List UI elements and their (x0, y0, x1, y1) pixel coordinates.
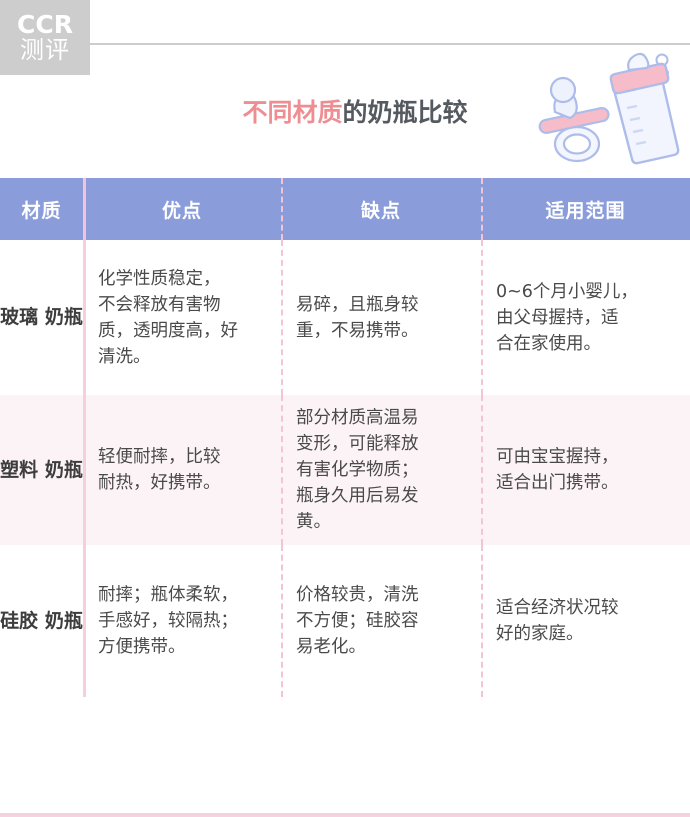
material-line: 玻璃 (0, 306, 38, 328)
material-line: 奶瓶 (45, 459, 83, 481)
text-line: 合在家使用。 (496, 331, 638, 357)
text-line: 黄。 (296, 509, 419, 535)
text-line: 重，不易携带。 (296, 318, 419, 344)
comparison-table: 材质 优点 缺点 适用范围 玻璃 奶瓶 化学性质稳定， 不会释放有害物 质，透明… (0, 178, 690, 697)
text-line: 耐热，好携带。 (98, 470, 221, 496)
text-line: 瓶身久用后易发 (296, 483, 419, 509)
cell-scope: 可由宝宝握持， 适合出门携带。 (481, 395, 690, 545)
cell-material: 硅胶 奶瓶 (0, 545, 83, 697)
text-line: 不方便；硅胶容 (296, 608, 419, 634)
cell-pros: 耐摔；瓶体柔软， 手感好，较隔热； 方便携带。 (83, 545, 281, 697)
logo-primary-text: CCR (17, 12, 73, 37)
text-line: 适合出门携带。 (496, 470, 619, 496)
column-header-material: 材质 (0, 178, 83, 240)
cell-material: 玻璃 奶瓶 (0, 240, 83, 395)
page-title-accent: 不同材质 (242, 98, 342, 127)
cell-cons: 易碎，且瓶身较 重，不易携带。 (281, 240, 481, 395)
text-line: 好的家庭。 (496, 621, 619, 647)
text-line: 不会释放有害物 (98, 292, 238, 318)
text-line: 变形，可能释放 (296, 431, 419, 457)
material-line: 塑料 (0, 459, 38, 481)
column-header-cons: 缺点 (281, 178, 481, 240)
logo-secondary-text: 测评 (20, 37, 70, 64)
text-line: 0~6个月小婴儿， (496, 279, 638, 305)
text-line: 适合经济状况较 (496, 595, 619, 621)
text-line: 价格较贵，清洗 (296, 582, 419, 608)
text-line: 易老化。 (296, 634, 419, 660)
text-line: 部分材质高温易 (296, 405, 419, 431)
table-row: 塑料 奶瓶 轻便耐摔，比较 耐热，好携带。 部分材质高温易 变形，可能释放 有害… (0, 395, 690, 545)
cell-scope: 适合经济状况较 好的家庭。 (481, 545, 690, 697)
page-title-rest: 的奶瓶比较 (343, 98, 468, 127)
text-line: 耐摔；瓶体柔软， (98, 582, 238, 608)
text-line: 可由宝宝握持， (496, 444, 619, 470)
text-line: 轻便耐摔，比较 (98, 444, 221, 470)
table-row: 硅胶 奶瓶 耐摔；瓶体柔软， 手感好，较隔热； 方便携带。 价格较贵，清洗 不方… (0, 545, 690, 697)
cell-cons: 部分材质高温易 变形，可能释放 有害化学物质； 瓶身久用后易发 黄。 (281, 395, 481, 545)
text-line: 有害化学物质； (296, 457, 419, 483)
header-divider-rule (88, 43, 690, 45)
cell-pros: 轻便耐摔，比较 耐热，好携带。 (83, 395, 281, 545)
text-line: 手感好，较隔热； (98, 608, 238, 634)
material-line: 奶瓶 (45, 306, 83, 328)
column-header-scope: 适用范围 (481, 178, 690, 240)
baby-bottle-pacifier-icon (515, 52, 685, 167)
text-line: 清洗。 (98, 344, 238, 370)
material-line: 奶瓶 (45, 610, 83, 632)
cell-material: 塑料 奶瓶 (0, 395, 83, 545)
text-line: 易碎，且瓶身较 (296, 292, 419, 318)
text-line: 化学性质稳定， (98, 266, 238, 292)
cell-scope: 0~6个月小婴儿， 由父母握持，适 合在家使用。 (481, 240, 690, 395)
column-header-pros: 优点 (83, 178, 281, 240)
material-line: 硅胶 (0, 610, 38, 632)
text-line: 方便携带。 (98, 634, 238, 660)
text-line: 质，透明度高，好 (98, 318, 238, 344)
text-line: 由父母握持，适 (496, 305, 638, 331)
table-bottom-rule (0, 813, 690, 817)
table-header-row: 材质 优点 缺点 适用范围 (0, 178, 690, 240)
cell-pros: 化学性质稳定， 不会释放有害物 质，透明度高，好 清洗。 (83, 240, 281, 395)
table-row: 玻璃 奶瓶 化学性质稳定， 不会释放有害物 质，透明度高，好 清洗。 易碎，且瓶… (0, 240, 690, 395)
cell-cons: 价格较贵，清洗 不方便；硅胶容 易老化。 (281, 545, 481, 697)
brand-logo: CCR 测评 (0, 0, 90, 75)
